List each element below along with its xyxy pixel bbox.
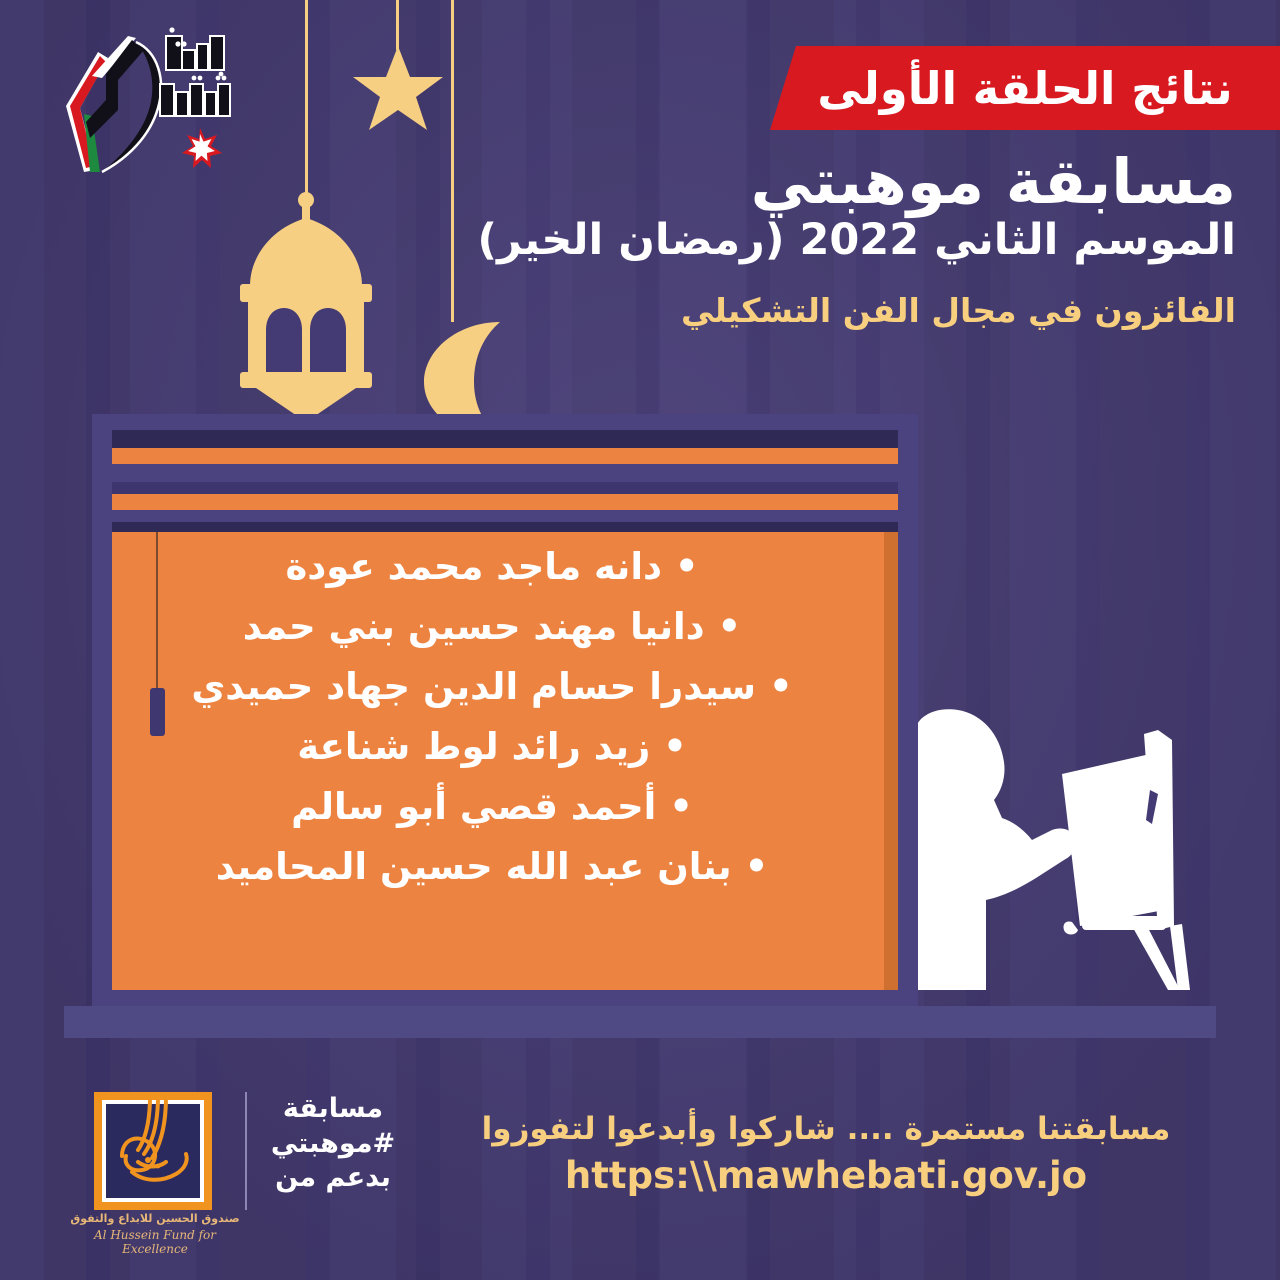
list-item: • زيد رائد لوط شناعة <box>112 728 872 765</box>
board-right-edge <box>884 532 898 990</box>
fund-caption-english: Al Hussein Fund for Excellence <box>60 1228 250 1256</box>
list-item: • بنان عبد الله حسين المحاميد <box>112 848 872 885</box>
promo-block: مسابقتنا مستمرة .... شاركوا وأبدعوا لتفو… <box>416 1110 1236 1199</box>
star-cord <box>396 0 399 50</box>
category-label: الفائزون في مجال الفن التشكيلي <box>406 291 1236 331</box>
ministry-of-culture-logo <box>40 22 240 192</box>
footer-divider <box>245 1092 247 1210</box>
banner-label: نتائج الحلقة الأولى <box>817 66 1232 111</box>
painter-silhouette-icon <box>886 690 1216 1010</box>
episode-results-banner: نتائج الحلقة الأولى <box>770 46 1280 130</box>
fund-logo-caption: صندوق الحسين للابداع والتفوق Al Hussein … <box>60 1212 250 1256</box>
hashtag-block: مسابقة #موهبتي بدعم من <box>258 1092 408 1196</box>
list-item: • أحمد قصي أبو سالم <box>112 788 872 825</box>
winners-list: • دانه ماجد محمد عودة • دانيا مهند حسين … <box>112 548 872 885</box>
board-stripe-4 <box>112 482 898 494</box>
board-stripe-2 <box>112 448 898 464</box>
ministry-logo-icon <box>40 22 240 192</box>
lantern-icon <box>232 190 380 426</box>
results-board: • دانه ماجد محمد عودة • دانيا مهند حسين … <box>92 414 918 1006</box>
board-inner: • دانه ماجد محمد عودة • دانيا مهند حسين … <box>112 430 898 990</box>
board-stripe-1 <box>112 430 898 448</box>
lantern-cord <box>305 0 308 200</box>
header-block: مسابقة موهبتي الموسم الثاني 2022 (رمضان … <box>406 150 1236 330</box>
poster-canvas: نتائج الحلقة الأولى مسابقة موهبتي الموسم… <box>0 0 1280 1280</box>
board-stripe-6 <box>112 510 898 522</box>
website-url[interactable]: https:\\mawhebati.gov.jo <box>416 1153 1236 1199</box>
board-stripe-5 <box>112 494 898 510</box>
board-stripe-7 <box>112 522 898 532</box>
list-item: • دانه ماجد محمد عودة <box>112 548 872 585</box>
hashtag-line-3: بدعم من <box>258 1161 408 1196</box>
page-subtitle: الموسم الثاني 2022 (رمضان الخير) <box>406 216 1236 264</box>
fund-logo-icon <box>92 1090 214 1212</box>
hashtag-line-2: #موهبتي <box>258 1127 408 1162</box>
promo-text: مسابقتنا مستمرة .... شاركوا وأبدعوا لتفو… <box>416 1110 1236 1149</box>
al-hussein-fund-logo <box>92 1090 214 1212</box>
fund-caption-arabic: صندوق الحسين للابداع والتفوق <box>60 1212 250 1225</box>
list-item: • سيدرا حسام الدين جهاد حميدي <box>112 668 872 705</box>
star-icon <box>352 44 444 138</box>
page-title: مسابقة موهبتي <box>406 150 1236 214</box>
board-stripe-3 <box>112 464 898 482</box>
hashtag-line-1: مسابقة <box>258 1092 408 1127</box>
board-shelf <box>64 1006 1216 1038</box>
list-item: • دانيا مهند حسين بني حمد <box>112 608 872 645</box>
